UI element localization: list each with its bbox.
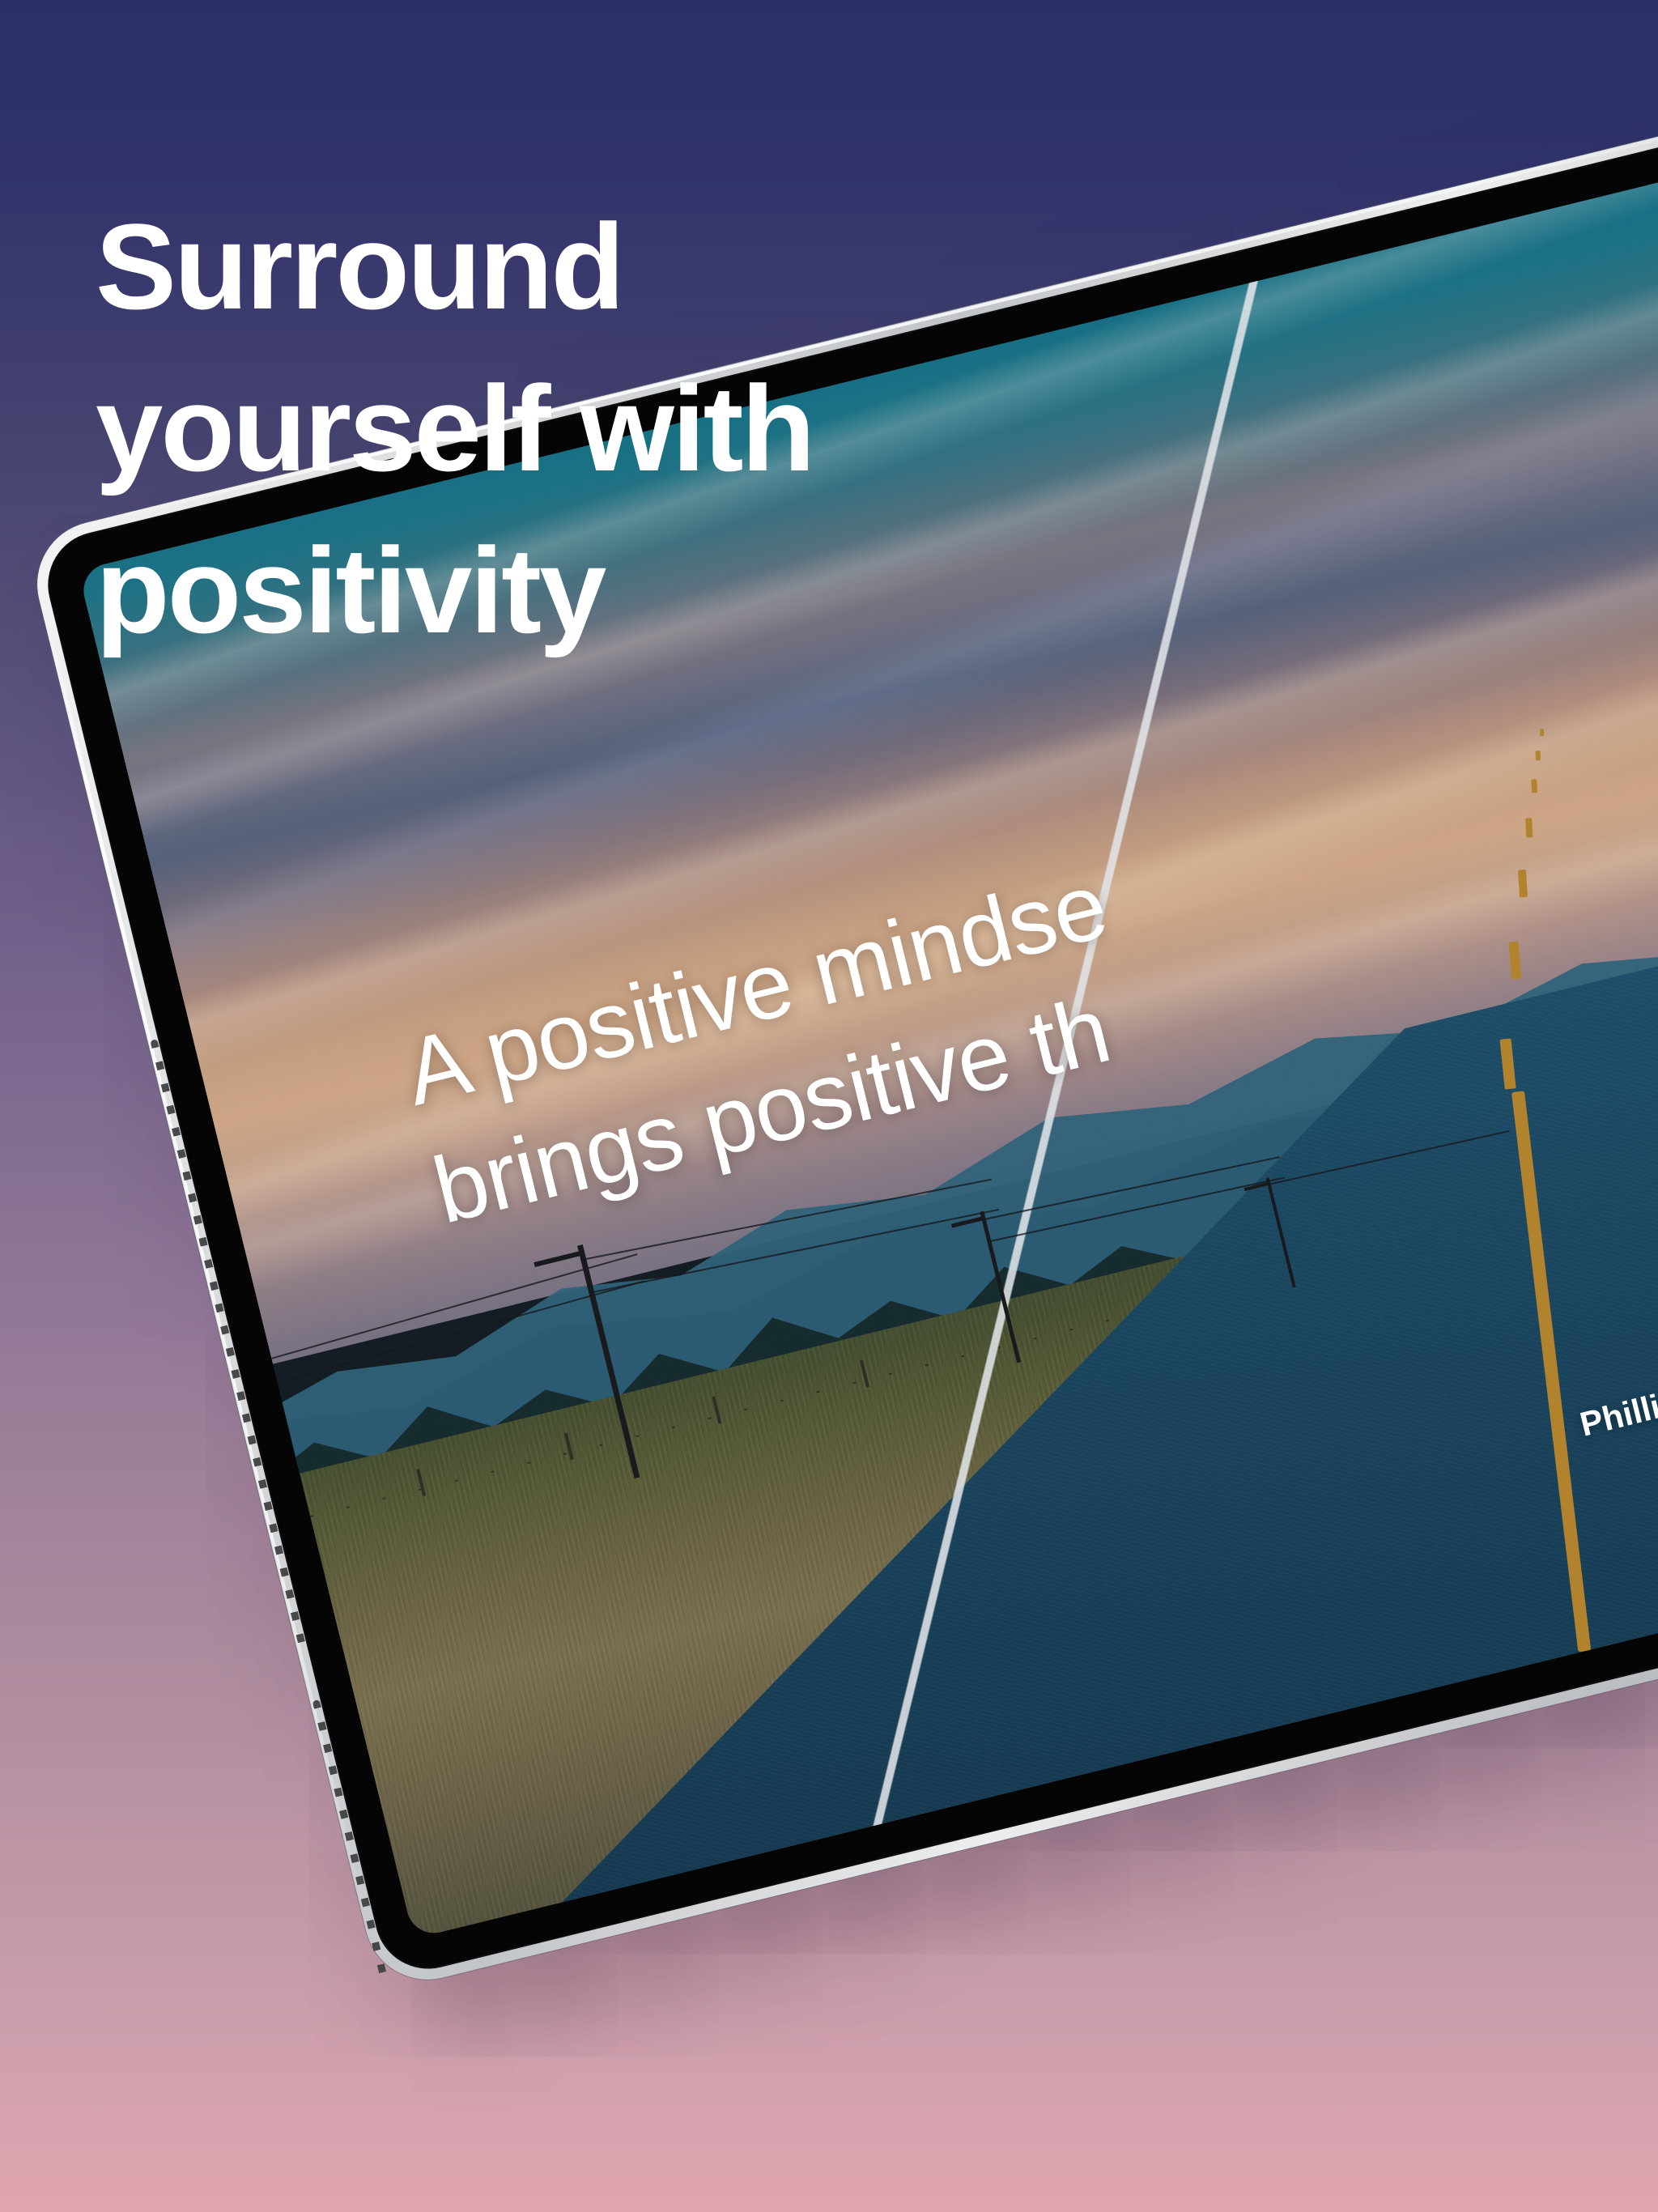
tablet-screen[interactable]: A positive mindse brings positive th Phi… <box>78 117 1658 1938</box>
utility-pole <box>980 1211 1021 1363</box>
utility-wire <box>589 1209 999 1294</box>
tablet-frame: A positive mindse brings positive th Phi… <box>24 63 1658 1993</box>
utility-pole <box>577 1244 640 1478</box>
tablet-bezel: A positive mindse brings positive th Phi… <box>36 75 1658 1980</box>
utility-pole <box>1265 1177 1295 1287</box>
utility-wire <box>271 1253 638 1359</box>
utility-crossarm <box>534 1251 580 1267</box>
utility-wire <box>277 1280 644 1384</box>
tablet-device: A positive mindse brings positive th Phi… <box>24 63 1658 1993</box>
utility-wire <box>1267 1130 1509 1185</box>
promo-screenshot: Surround yourself with positivity <box>0 0 1658 2212</box>
